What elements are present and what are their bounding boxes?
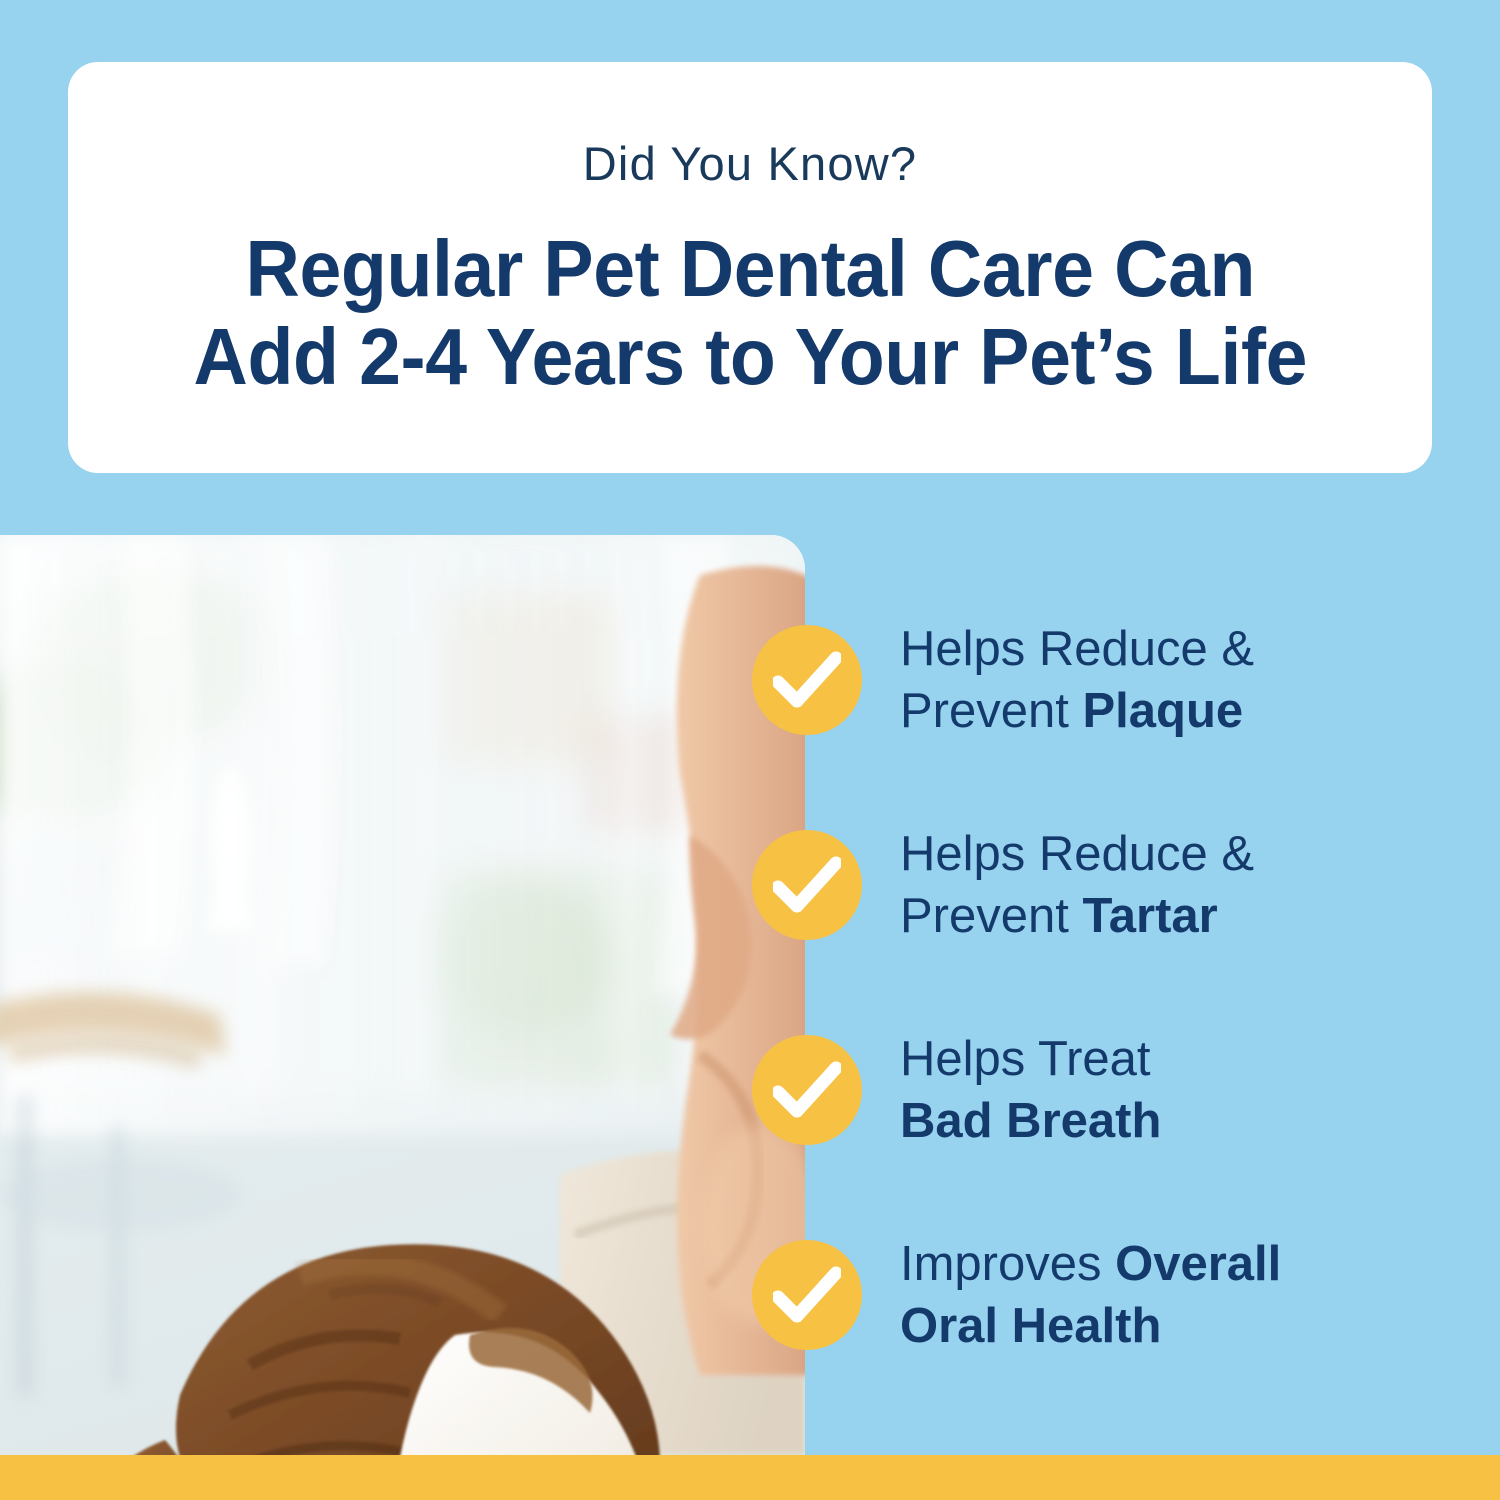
benefit-line-2-regular: Prevent: [900, 889, 1082, 943]
checkmark-icon: [752, 625, 862, 735]
page-title: Regular Pet Dental Care Can Add 2-4 Year…: [193, 225, 1307, 401]
benefit-item-tartar: Helps Reduce & Prevent Tartar: [752, 830, 1452, 940]
benefit-item-oral-health: Improves Overall Oral Health: [752, 1240, 1452, 1350]
benefit-line-2: Bad Breath: [900, 1090, 1161, 1152]
benefit-line-2-bold: Bad Breath: [900, 1094, 1161, 1148]
benefit-line-1-bold: Overall: [1115, 1237, 1281, 1291]
eyebrow-text: Did You Know?: [583, 140, 917, 187]
benefit-line-1: Helps Reduce &: [900, 823, 1254, 885]
benefit-label: Improves Overall Oral Health: [900, 1233, 1281, 1357]
headline-line-2: Add 2-4 Years to Your Pet’s Life: [193, 313, 1307, 401]
benefit-line-1: Helps Treat: [900, 1028, 1161, 1090]
yellow-accent-bar: [0, 1455, 1500, 1500]
headline-line-1: Regular Pet Dental Care Can: [193, 225, 1307, 313]
benefit-item-plaque: Helps Reduce & Prevent Plaque: [752, 625, 1452, 735]
checkmark-icon: [752, 1240, 862, 1350]
benefit-line-1: Improves Overall: [900, 1233, 1281, 1295]
benefit-line-2-bold: Plaque: [1082, 684, 1243, 738]
benefit-line-2-regular: Prevent: [900, 684, 1082, 738]
benefit-line-2: Prevent Tartar: [900, 885, 1254, 947]
benefit-line-2: Oral Health: [900, 1295, 1281, 1357]
benefit-label: Helps Treat Bad Breath: [900, 1028, 1161, 1152]
benefit-item-bad-breath: Helps Treat Bad Breath: [752, 1035, 1452, 1145]
benefit-line-2-bold: Tartar: [1082, 889, 1217, 943]
checkmark-icon: [752, 830, 862, 940]
checkmark-icon: [752, 1035, 862, 1145]
benefit-line-1: Helps Reduce &: [900, 618, 1254, 680]
benefit-line-2-bold: Oral Health: [900, 1299, 1161, 1353]
benefit-label: Helps Reduce & Prevent Tartar: [900, 823, 1254, 947]
benefit-line-2: Prevent Plaque: [900, 680, 1254, 742]
headline-card: Did You Know? Regular Pet Dental Care Ca…: [68, 62, 1432, 473]
dog-and-owner-photo: [0, 535, 805, 1455]
benefit-label: Helps Reduce & Prevent Plaque: [900, 618, 1254, 742]
benefit-line-1-regular: Improves: [900, 1237, 1115, 1291]
